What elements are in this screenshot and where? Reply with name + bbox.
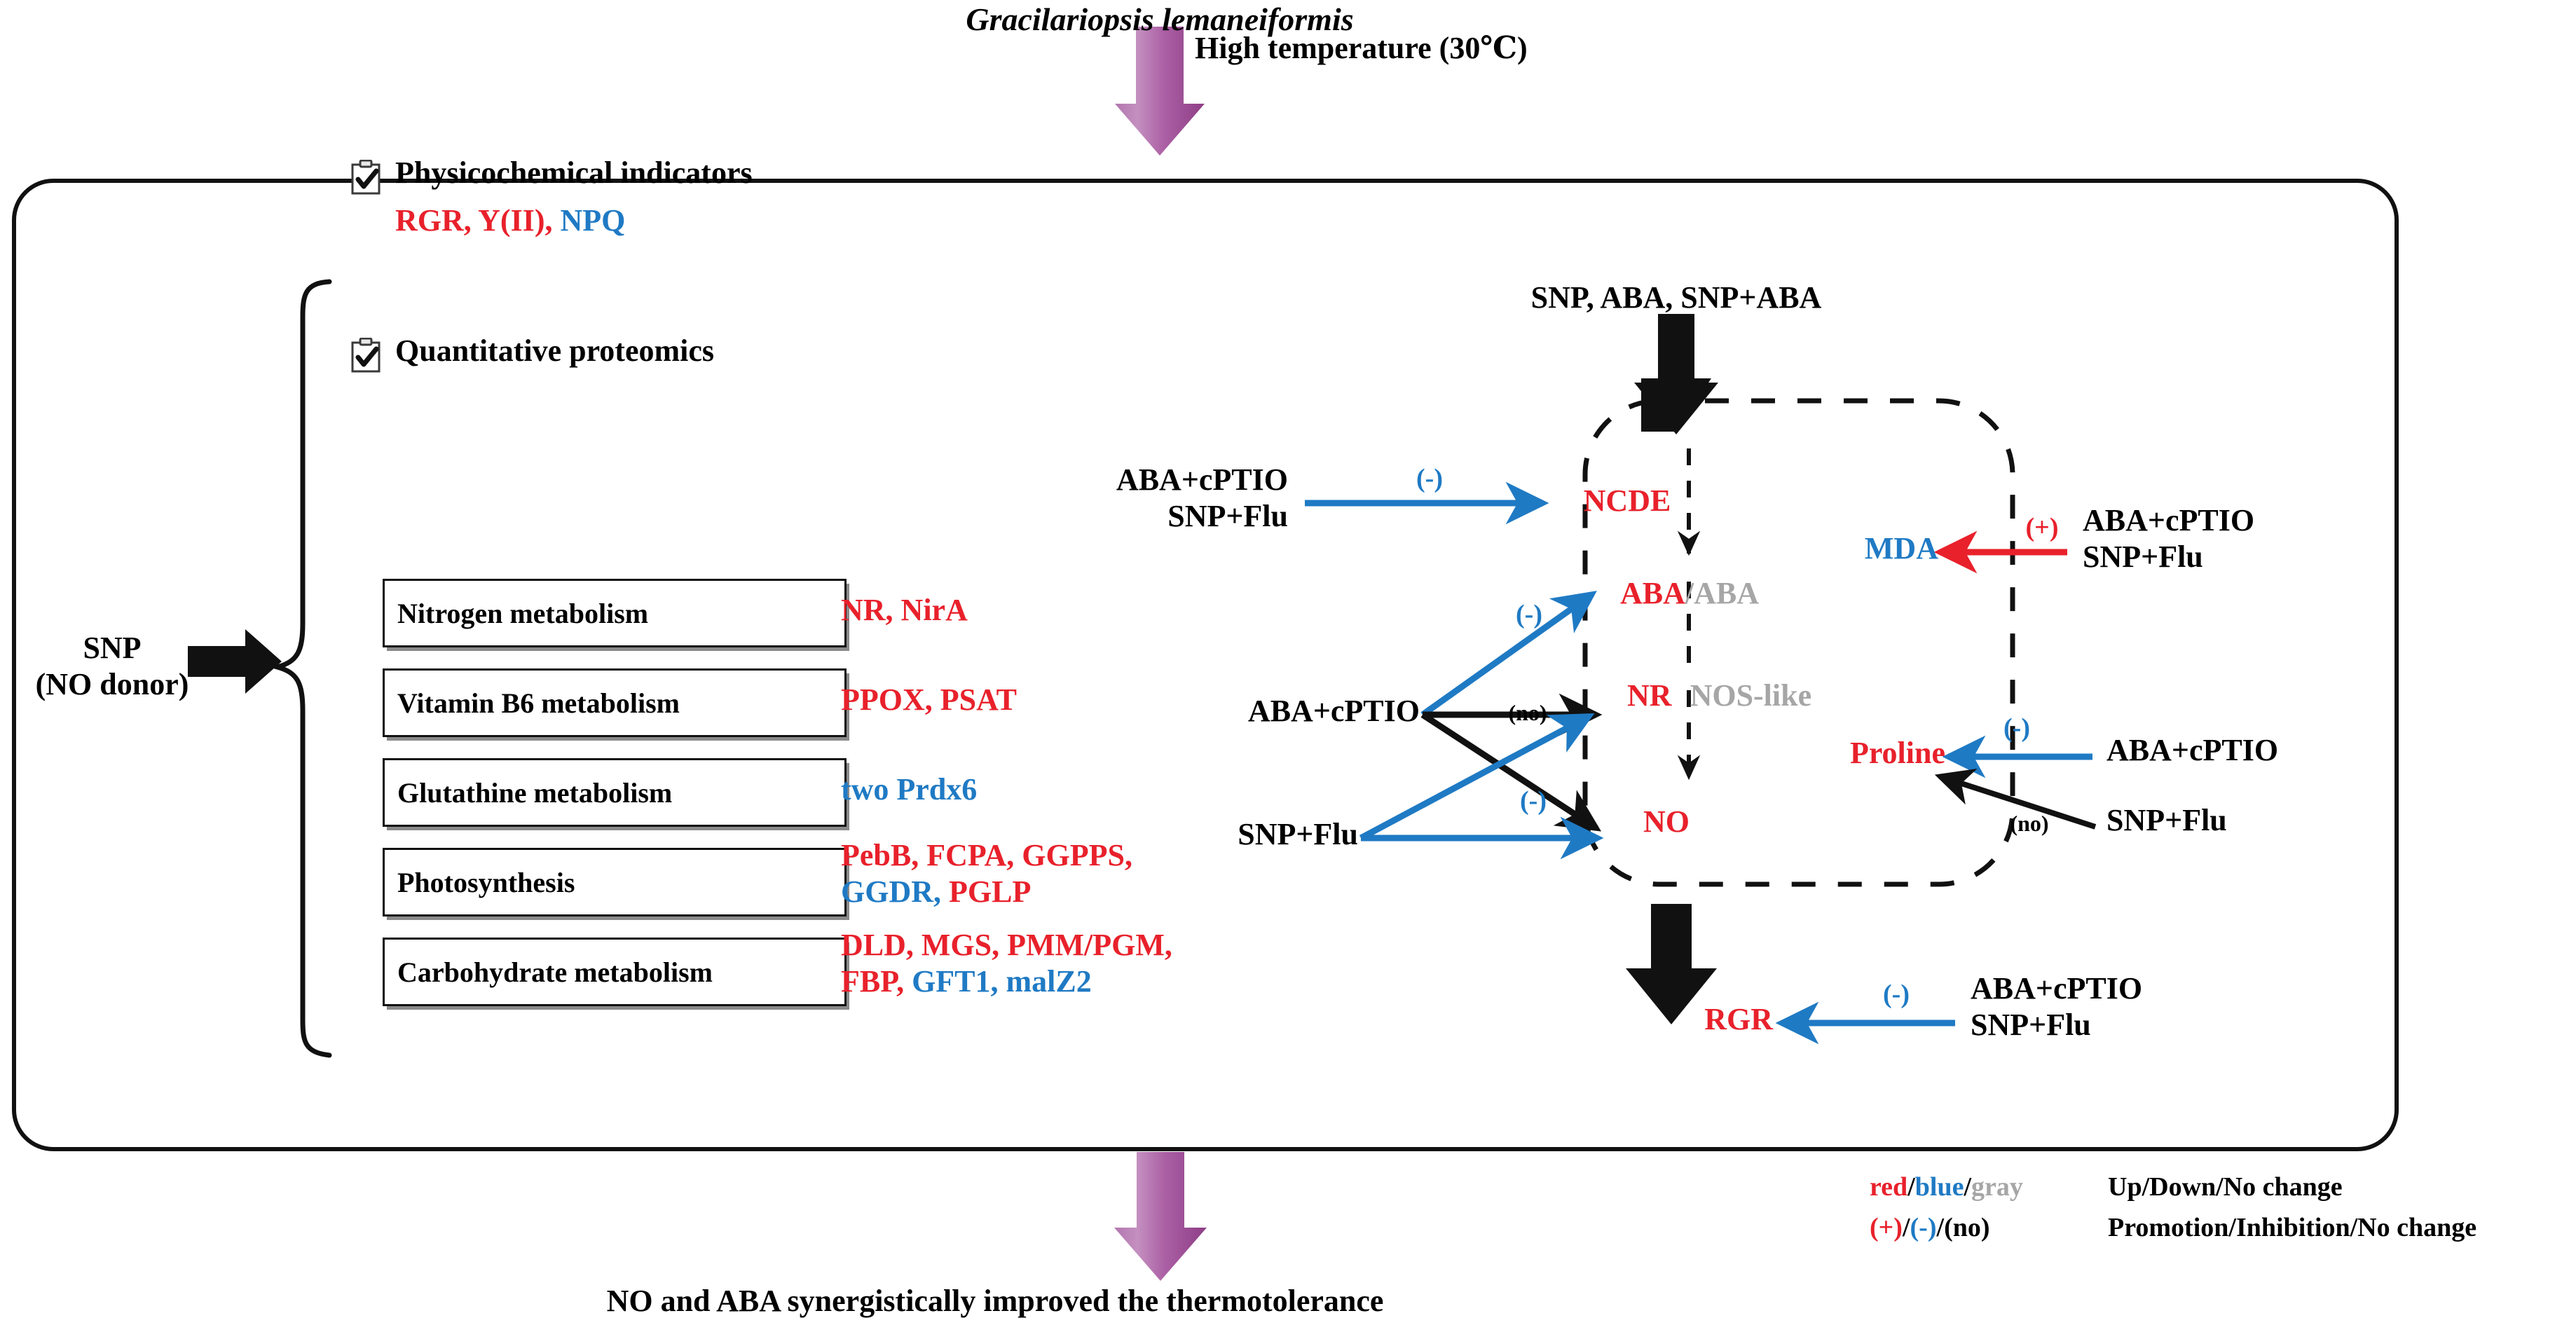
- pathway-box-nitrogen[interactable]: Nitrogen metabolism: [383, 579, 847, 647]
- proteins-carbohydrate-line2: FBP, GFT1, malZ2: [841, 964, 1092, 998]
- legend-gray: gray: [1971, 1172, 2023, 1202]
- node-nos-like: NOS-like: [1690, 678, 1812, 713]
- treatment-label: High temperature (30℃): [1195, 31, 1528, 65]
- section-title-physicochemical: Physicochemical indicators: [395, 156, 753, 190]
- legend-blue: blue: [1915, 1172, 1964, 1202]
- sign-to-nr: (no): [1508, 701, 1547, 726]
- legend-no: (no): [1944, 1213, 1989, 1242]
- clipboard-check-icon: [350, 160, 383, 196]
- legend-sep4: /: [1937, 1213, 1945, 1242]
- black-down-block-arrow-bottom: [1626, 904, 1717, 1024]
- black-right-block-arrow-inlet: [188, 629, 282, 694]
- node-no: NO: [1643, 804, 1690, 839]
- treatment-mda-line1: ABA+cPTIO: [2083, 503, 2254, 537]
- legend-sep1: /: [1907, 1172, 1915, 1202]
- sign-to-no: (-): [1520, 786, 1547, 816]
- conclusion-text: NO and ABA synergistically improved the …: [607, 1284, 1384, 1318]
- legend-sep3: /: [1903, 1213, 1910, 1242]
- diagram-canvas: Gracilariopsis lemaneiformis High temper…: [0, 0, 2576, 1325]
- treatment-snpflu-mid: SNP+Flu: [1238, 817, 1358, 851]
- treatment-proline-blue: ABA+cPTIO: [2106, 733, 2278, 767]
- node-aba-red: ABA: [1620, 576, 1685, 610]
- arrow-abacptio-to-aba: [1423, 594, 1592, 715]
- treatment-ncde-line1: ABA+cPTIO: [1116, 462, 1288, 497]
- clipboard-check-icon: [350, 338, 383, 374]
- black-down-block-arrow-top: [1634, 314, 1718, 434]
- node-mda: MDA: [1865, 531, 1938, 565]
- legend-signs-meaning: Promotion/Inhibition/No change: [2108, 1212, 2476, 1243]
- treatment-rgr-line1: ABA+cPTIO: [1971, 971, 2142, 1005]
- sign-rgr: (-): [1883, 980, 1910, 1010]
- proteins-photosynthesis-line2: GGDR, PGLP: [841, 874, 1031, 909]
- section-title-proteomics: Quantitative proteomics: [395, 334, 714, 368]
- item-npq: NPQ: [552, 203, 625, 238]
- treatment-proline-black: SNP+Flu: [2106, 803, 2227, 837]
- proteins-glutathine: two Prdx6: [841, 772, 977, 806]
- protein-pglp: PGLP: [941, 874, 1031, 909]
- node-proline: Proline: [1850, 736, 1945, 770]
- proteins-vitaminb6: PPOX, PSAT: [841, 682, 1017, 717]
- treatment-mda-line2: SNP+Flu: [2083, 540, 2203, 574]
- legend-signs-key: (+)/(-)/(no): [1870, 1212, 1990, 1243]
- item-rgr-yii: RGR, Y(II),: [395, 203, 552, 238]
- pathway-box-photosynthesis[interactable]: Photosynthesis: [383, 848, 847, 916]
- proteins-nitrogen: NR, NirA: [841, 593, 968, 627]
- protein-gft1-malz2: GFT1, malZ2: [904, 964, 1092, 998]
- purple-down-arrow-top: [1115, 27, 1205, 156]
- sign-ncde: (-): [1416, 464, 1443, 494]
- node-rgr: RGR: [1704, 1002, 1773, 1036]
- legend-minus: (-): [1910, 1213, 1937, 1242]
- pathway-box-vitaminb6[interactable]: Vitamin B6 metabolism: [383, 668, 847, 737]
- curly-brace: [278, 282, 329, 1055]
- purple-down-arrow-bottom: [1114, 1152, 1207, 1281]
- treatment-abacptio-mid: ABA+cPTIO: [1248, 694, 1420, 728]
- treatment-ncde-line2: SNP+Flu: [1167, 499, 1288, 533]
- protein-fbp: FBP,: [841, 964, 904, 998]
- legend-colors-meaning: Up/Down/No change: [2108, 1172, 2343, 1202]
- node-nr-group: NRNOS-like: [1627, 678, 1811, 713]
- sign-mda: (+): [2026, 513, 2059, 543]
- node-aba-group: ABA/ABA: [1620, 576, 1759, 610]
- vector-layer: [0, 0, 2576, 1325]
- legend-red: red: [1870, 1172, 1907, 1202]
- legend-colors-key: red/blue/gray: [1870, 1172, 2023, 1202]
- sign-proline-blue: (-): [2003, 713, 2030, 743]
- physicochemical-items: RGR, Y(II), NPQ: [395, 203, 625, 238]
- inlet-label-no-donor: (NO donor): [36, 667, 189, 701]
- proteins-photosynthesis-line1: PebB, FCPA, GGPPS,: [841, 838, 1132, 872]
- treatment-rgr-line2: SNP+Flu: [1971, 1008, 2091, 1042]
- node-aba-gray: /ABA: [1685, 576, 1759, 610]
- legend-sep2: /: [1964, 1172, 1971, 1202]
- top-input-label: SNP, ABA, SNP+ABA: [1531, 280, 1822, 315]
- proteins-carbohydrate-line1: DLD, MGS, PMM/PGM,: [841, 928, 1172, 962]
- inlet-label-snp: SNP: [83, 631, 141, 665]
- pathway-box-glutathine[interactable]: Glutathine metabolism: [383, 758, 847, 827]
- sign-to-aba: (-): [1516, 600, 1542, 630]
- arrow-abacptio-to-no: [1423, 715, 1596, 828]
- legend-plus: (+): [1870, 1213, 1903, 1242]
- node-ncde: NCDE: [1584, 483, 1671, 518]
- node-nr: NR: [1627, 678, 1672, 713]
- sign-proline-black: (no): [2010, 811, 2048, 837]
- arrow-snpflu-to-nr: [1361, 716, 1589, 838]
- protein-ggdr: GGDR,: [841, 874, 941, 909]
- pathway-box-carbohydrate[interactable]: Carbohydrate metabolism: [383, 938, 847, 1006]
